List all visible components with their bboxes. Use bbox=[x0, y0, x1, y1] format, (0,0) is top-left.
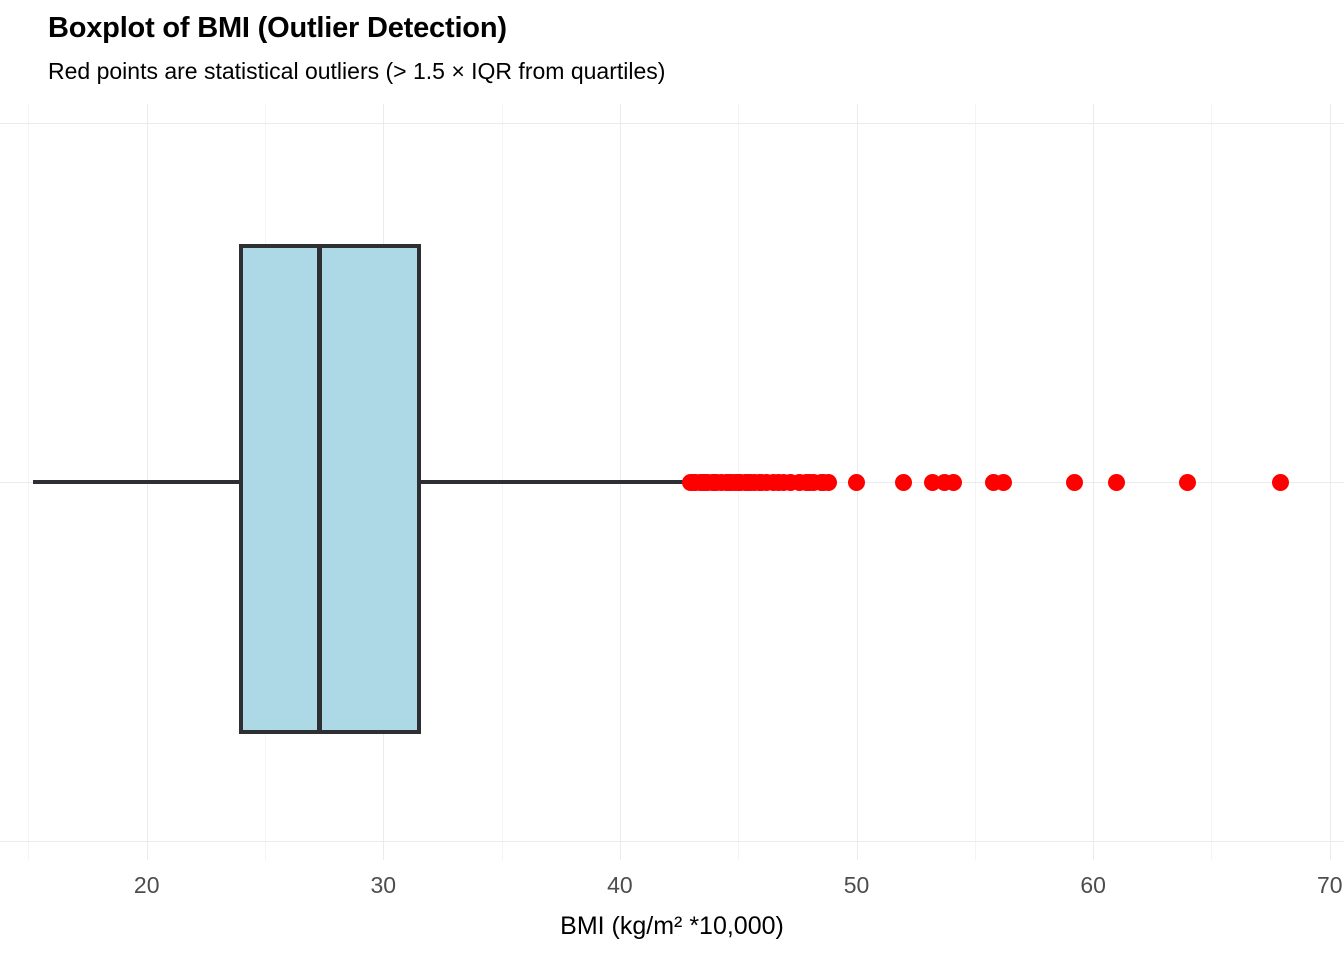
x-tick-label: 30 bbox=[371, 872, 397, 899]
box-rectangle bbox=[239, 244, 421, 734]
outlier-point bbox=[995, 474, 1012, 491]
x-tick-label: 50 bbox=[844, 872, 870, 899]
plot-subtitle: Red points are statistical outliers (> 1… bbox=[48, 58, 665, 85]
outlier-point bbox=[1272, 474, 1289, 491]
outlier-point bbox=[753, 474, 770, 491]
x-tick-label: 40 bbox=[607, 872, 633, 899]
outlier-point bbox=[1179, 474, 1196, 491]
outlier-point bbox=[895, 474, 912, 491]
outlier-point bbox=[1108, 474, 1125, 491]
x-tick-label: 70 bbox=[1317, 872, 1343, 899]
outlier-point bbox=[815, 474, 832, 491]
outlier-point bbox=[945, 474, 962, 491]
gridline-horizontal bbox=[0, 841, 1344, 842]
x-tick-label: 60 bbox=[1080, 872, 1106, 899]
median-line bbox=[317, 244, 322, 734]
outlier-point bbox=[770, 474, 787, 491]
chart-figure: Boxplot of BMI (Outlier Detection) Red p… bbox=[0, 0, 1344, 960]
x-axis-title: BMI (kg/m² *10,000) bbox=[0, 912, 1344, 941]
outlier-point bbox=[1066, 474, 1083, 491]
outlier-point bbox=[848, 474, 865, 491]
x-tick-label: 20 bbox=[134, 872, 160, 899]
plot-panel bbox=[0, 104, 1344, 860]
page-title: Boxplot of BMI (Outlier Detection) bbox=[48, 12, 507, 45]
gridline-horizontal bbox=[0, 123, 1344, 124]
